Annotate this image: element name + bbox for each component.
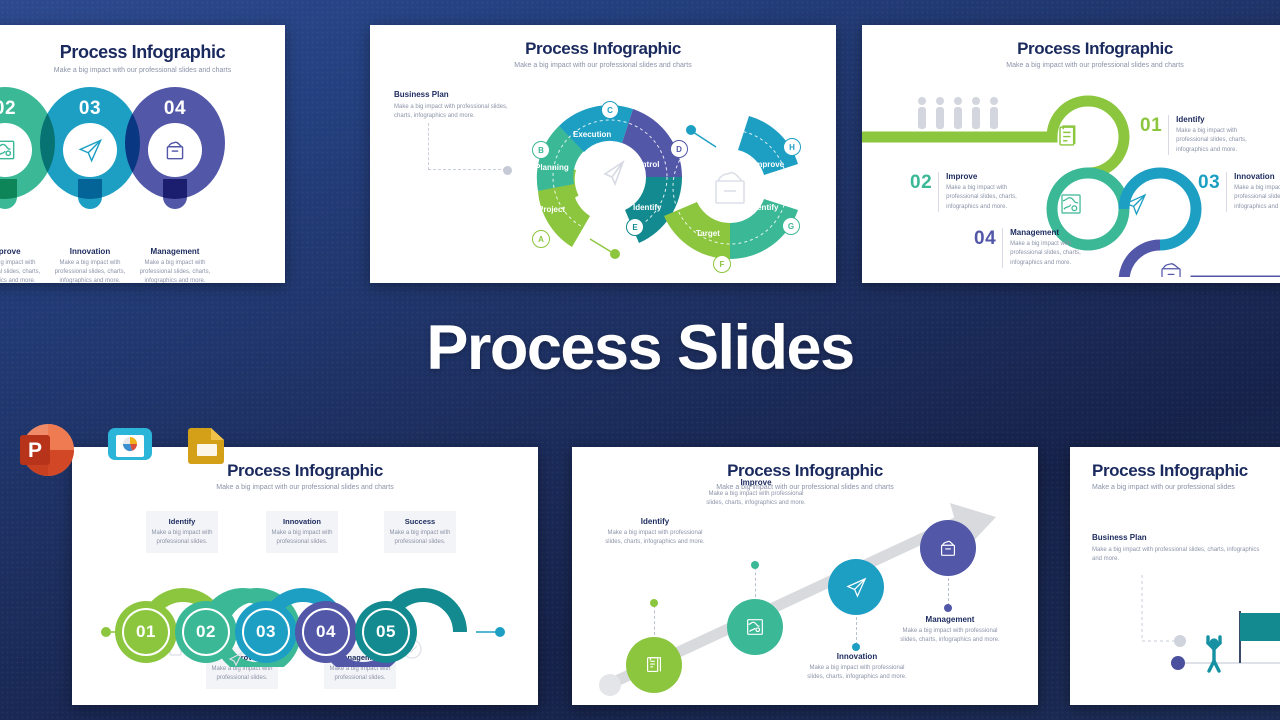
slide5-dot-1 bbox=[650, 599, 658, 607]
svg-text:P: P bbox=[28, 439, 42, 462]
slide5-text-2: Improve Make a big impact with professio… bbox=[700, 478, 812, 509]
slide5-text-1: Identify Make a big impact with professi… bbox=[599, 517, 711, 548]
slide2-segment-label-A: Project bbox=[538, 205, 565, 214]
slide4-ring-4[interactable]: 04 bbox=[295, 601, 357, 663]
slide4-card-3-title: Innovation bbox=[271, 517, 333, 526]
page-title: Process Slides bbox=[0, 312, 1280, 384]
slide5-circle-3[interactable] bbox=[828, 559, 884, 615]
slide5-text-2-desc: Make a big impact with professional slid… bbox=[700, 490, 812, 509]
slide3-step-4-title: Management bbox=[1010, 228, 1090, 237]
slide4-ring-4-number: 04 bbox=[302, 608, 350, 656]
slide5-text-2-title: Improve bbox=[700, 478, 812, 487]
slide6-subtitle: Make a big impact with our professional … bbox=[1070, 484, 1280, 491]
slide3-step-3-number: 03 bbox=[1198, 172, 1220, 194]
slide-thumbnail-1[interactable]: Process Infographic Make a big impact wi… bbox=[0, 25, 285, 283]
slide6-business-plan-desc: Make a big impact with professional slid… bbox=[1092, 546, 1262, 565]
slide1-label-3-desc: Make a big impact with professional slid… bbox=[44, 259, 136, 283]
paper-plane-icon bbox=[63, 123, 117, 177]
slide4-ring-1[interactable]: 01 bbox=[115, 601, 177, 663]
slide4-subtitle: Make a big impact with our professional … bbox=[72, 484, 538, 491]
slide2-segment-label-F: Target bbox=[696, 229, 720, 238]
slide4-ring-5-number: 05 bbox=[362, 608, 410, 656]
slide4-card-1-desc: Make a big impact with professional slid… bbox=[151, 529, 213, 547]
slide3-step-4[interactable]: 04 Management Make a big impact with pro… bbox=[974, 228, 1090, 268]
slide1-label-3-title: Innovation bbox=[44, 247, 136, 256]
slide4-card-5-title: Success bbox=[389, 517, 451, 526]
slide-thumbnail-4[interactable]: Process Infographic Make a big impact wi… bbox=[72, 447, 538, 705]
slide5-text-3-desc: Make a big impact with professional slid… bbox=[801, 664, 913, 683]
slide5-dot-2 bbox=[751, 561, 759, 569]
slide4-card-5[interactable]: Success Make a big impact with professio… bbox=[384, 511, 456, 553]
slide2-segment-label-H: Improve bbox=[753, 160, 784, 169]
slide2-badge-H[interactable]: H bbox=[783, 138, 801, 156]
slide3-step-2-title: Improve bbox=[946, 172, 1026, 181]
slide2-business-plan-desc: Make a big impact with professional slid… bbox=[394, 103, 520, 122]
person-icon bbox=[1208, 637, 1220, 671]
slide2-segment-label-C: Execution bbox=[573, 130, 611, 139]
slide4-ring-2[interactable]: 02 bbox=[175, 601, 237, 663]
slide3-step-4-number: 04 bbox=[974, 228, 996, 250]
slide2-segment-label-B: Planning bbox=[535, 163, 569, 172]
slide1-label-4: Management Make a big impact with profes… bbox=[125, 247, 225, 283]
slide2-badge-A[interactable]: A bbox=[532, 230, 550, 248]
slide3-step-1-desc: Make a big impact with professional slid… bbox=[1176, 127, 1256, 155]
app-icon-row: P bbox=[12, 420, 242, 480]
slide2-badge-F[interactable]: F bbox=[713, 255, 731, 273]
slide2-title: Process Infographic bbox=[370, 39, 836, 59]
slide-thumbnail-3[interactable]: Process Infographic Make a big impact wi… bbox=[862, 25, 1280, 283]
slide2-segment-label-D: Control bbox=[631, 160, 659, 169]
slide4-ring-3[interactable]: 03 bbox=[235, 601, 297, 663]
people-icon bbox=[918, 97, 998, 129]
slide3-step-2[interactable]: 02 Improve Make a big impact with profes… bbox=[910, 172, 1026, 212]
slide1-bulb-group: 01 02 03 bbox=[0, 87, 285, 227]
slide4-card-3-desc: Make a big impact with professional slid… bbox=[271, 529, 333, 547]
slide2-connector-line bbox=[428, 123, 506, 170]
slide3-step-2-desc: Make a big impact with professional slid… bbox=[946, 184, 1026, 212]
document-icon bbox=[643, 654, 665, 676]
slide6-illustration bbox=[1070, 567, 1280, 705]
slide2-donut-svg bbox=[510, 77, 830, 277]
slide1-step-4[interactable]: 04 bbox=[125, 87, 225, 227]
slide5-text-4-title: Management bbox=[894, 615, 1006, 624]
slide2-badge-B[interactable]: B bbox=[532, 141, 550, 159]
slide3-step-3-desc: Make a big impact with professional slid… bbox=[1234, 184, 1280, 212]
slide3-step-3[interactable]: 03 Innovation Make a big impact with pro… bbox=[1198, 172, 1280, 212]
slide6-business-plan-title: Business Plan bbox=[1092, 533, 1262, 542]
slide2-badge-C[interactable]: C bbox=[601, 101, 619, 119]
slide6-title: Process Infographic bbox=[1070, 461, 1280, 481]
grey-dot bbox=[1174, 635, 1186, 647]
slide2-badge-D[interactable]: D bbox=[670, 140, 688, 158]
slide5-stem-4 bbox=[948, 578, 949, 606]
slide2-double-donut: Project Planning Execution Control Ident… bbox=[510, 77, 830, 277]
slide4-ring-2-number: 02 bbox=[182, 608, 230, 656]
slide5-text-1-desc: Make a big impact with professional slid… bbox=[599, 529, 711, 548]
slide1-step-4-number: 04 bbox=[125, 98, 225, 120]
slide1-title: Process Infographic bbox=[0, 42, 285, 63]
slide3-subtitle: Make a big impact with our professional … bbox=[862, 62, 1280, 69]
slide4-ring-1-number: 01 bbox=[122, 608, 170, 656]
slide4-card-1-title: Identify bbox=[151, 517, 213, 526]
slide4-card-4-desc: Make a big impact with professional slid… bbox=[329, 665, 391, 683]
slide2-business-plan-title: Business Plan bbox=[394, 90, 520, 99]
slide2-badge-G[interactable]: G bbox=[782, 217, 800, 235]
slide5-dot-4 bbox=[944, 604, 952, 612]
slide3-step-4-desc: Make a big impact with professional slid… bbox=[1010, 240, 1090, 268]
archive-box-icon bbox=[148, 123, 202, 177]
slide3-step-2-number: 02 bbox=[910, 172, 932, 194]
slide2-segment-label-G: Identify bbox=[750, 203, 778, 212]
slide1-subtitle: Make a big impact with our professional … bbox=[0, 67, 285, 74]
slide5-text-3: Innovation Make a big impact with profes… bbox=[801, 652, 913, 683]
slide5-text-4-desc: Make a big impact with professional slid… bbox=[894, 627, 1006, 646]
slide4-ring-3-number: 03 bbox=[242, 608, 290, 656]
slide5-dot-3 bbox=[852, 643, 860, 651]
flag-icon bbox=[1240, 613, 1280, 641]
map-icon bbox=[744, 616, 766, 638]
slide2-segment-label-E: Identify bbox=[633, 203, 661, 212]
slide-thumbnail-6[interactable]: Process Infographic Make a big impact wi… bbox=[1070, 447, 1280, 705]
purple-dot bbox=[1171, 656, 1185, 670]
slide2-badge-E[interactable]: E bbox=[626, 218, 644, 236]
slide5-circle-4[interactable] bbox=[920, 520, 976, 576]
slide3-step-1-number: 01 bbox=[1140, 115, 1162, 137]
slide3-step-1[interactable]: 01 Identify Make a big impact with profe… bbox=[1140, 115, 1256, 155]
paper-plane-icon bbox=[845, 576, 868, 599]
archive-box-icon bbox=[937, 537, 959, 559]
powerpoint-icon[interactable]: P bbox=[18, 422, 74, 483]
slide2-business-plan: Business Plan Make a big impact with pro… bbox=[394, 90, 520, 122]
slide2-subtitle: Make a big impact with our professional … bbox=[370, 62, 836, 69]
slide4-card-2-desc: Make a big impact with professional slid… bbox=[211, 665, 273, 683]
slide4-card-3[interactable]: Innovation Make a big impact with profes… bbox=[266, 511, 338, 553]
slide3-step-3-title: Innovation bbox=[1234, 172, 1280, 181]
slide5-stem-3 bbox=[856, 617, 857, 645]
slide5-text-3-title: Innovation bbox=[801, 652, 913, 661]
slide-thumbnail-2[interactable]: Process Infographic Make a big impact wi… bbox=[370, 25, 836, 283]
keynote-icon[interactable] bbox=[108, 428, 152, 469]
slide4-ring-5[interactable]: 05 bbox=[355, 601, 417, 663]
slide5-stem-1 bbox=[654, 605, 655, 635]
slide1-labels: Identify Make a big impact with professi… bbox=[0, 247, 285, 283]
slide-thumbnail-5[interactable]: Process Infographic Make a big impact wi… bbox=[572, 447, 1038, 705]
slide3-title: Process Infographic bbox=[862, 39, 1280, 59]
google-slides-icon[interactable] bbox=[188, 428, 226, 469]
slide3-step-1-title: Identify bbox=[1176, 115, 1256, 124]
slide5-stem-2 bbox=[755, 567, 756, 597]
slide1-label-4-desc: Make a big impact with professional slid… bbox=[129, 259, 221, 283]
slide5-circle-2[interactable] bbox=[727, 599, 783, 655]
slide4-card-1[interactable]: Identify Make a big impact with professi… bbox=[146, 511, 218, 553]
slide4-card-5-desc: Make a big impact with professional slid… bbox=[389, 529, 451, 547]
slide1-label-4-title: Management bbox=[129, 247, 221, 256]
slide6-business-plan: Business Plan Make a big impact with pro… bbox=[1092, 533, 1262, 565]
slide5-text-4: Management Make a big impact with profes… bbox=[894, 615, 1006, 646]
slide5-circle-1[interactable] bbox=[626, 637, 682, 693]
slide5-text-1-title: Identify bbox=[599, 517, 711, 526]
